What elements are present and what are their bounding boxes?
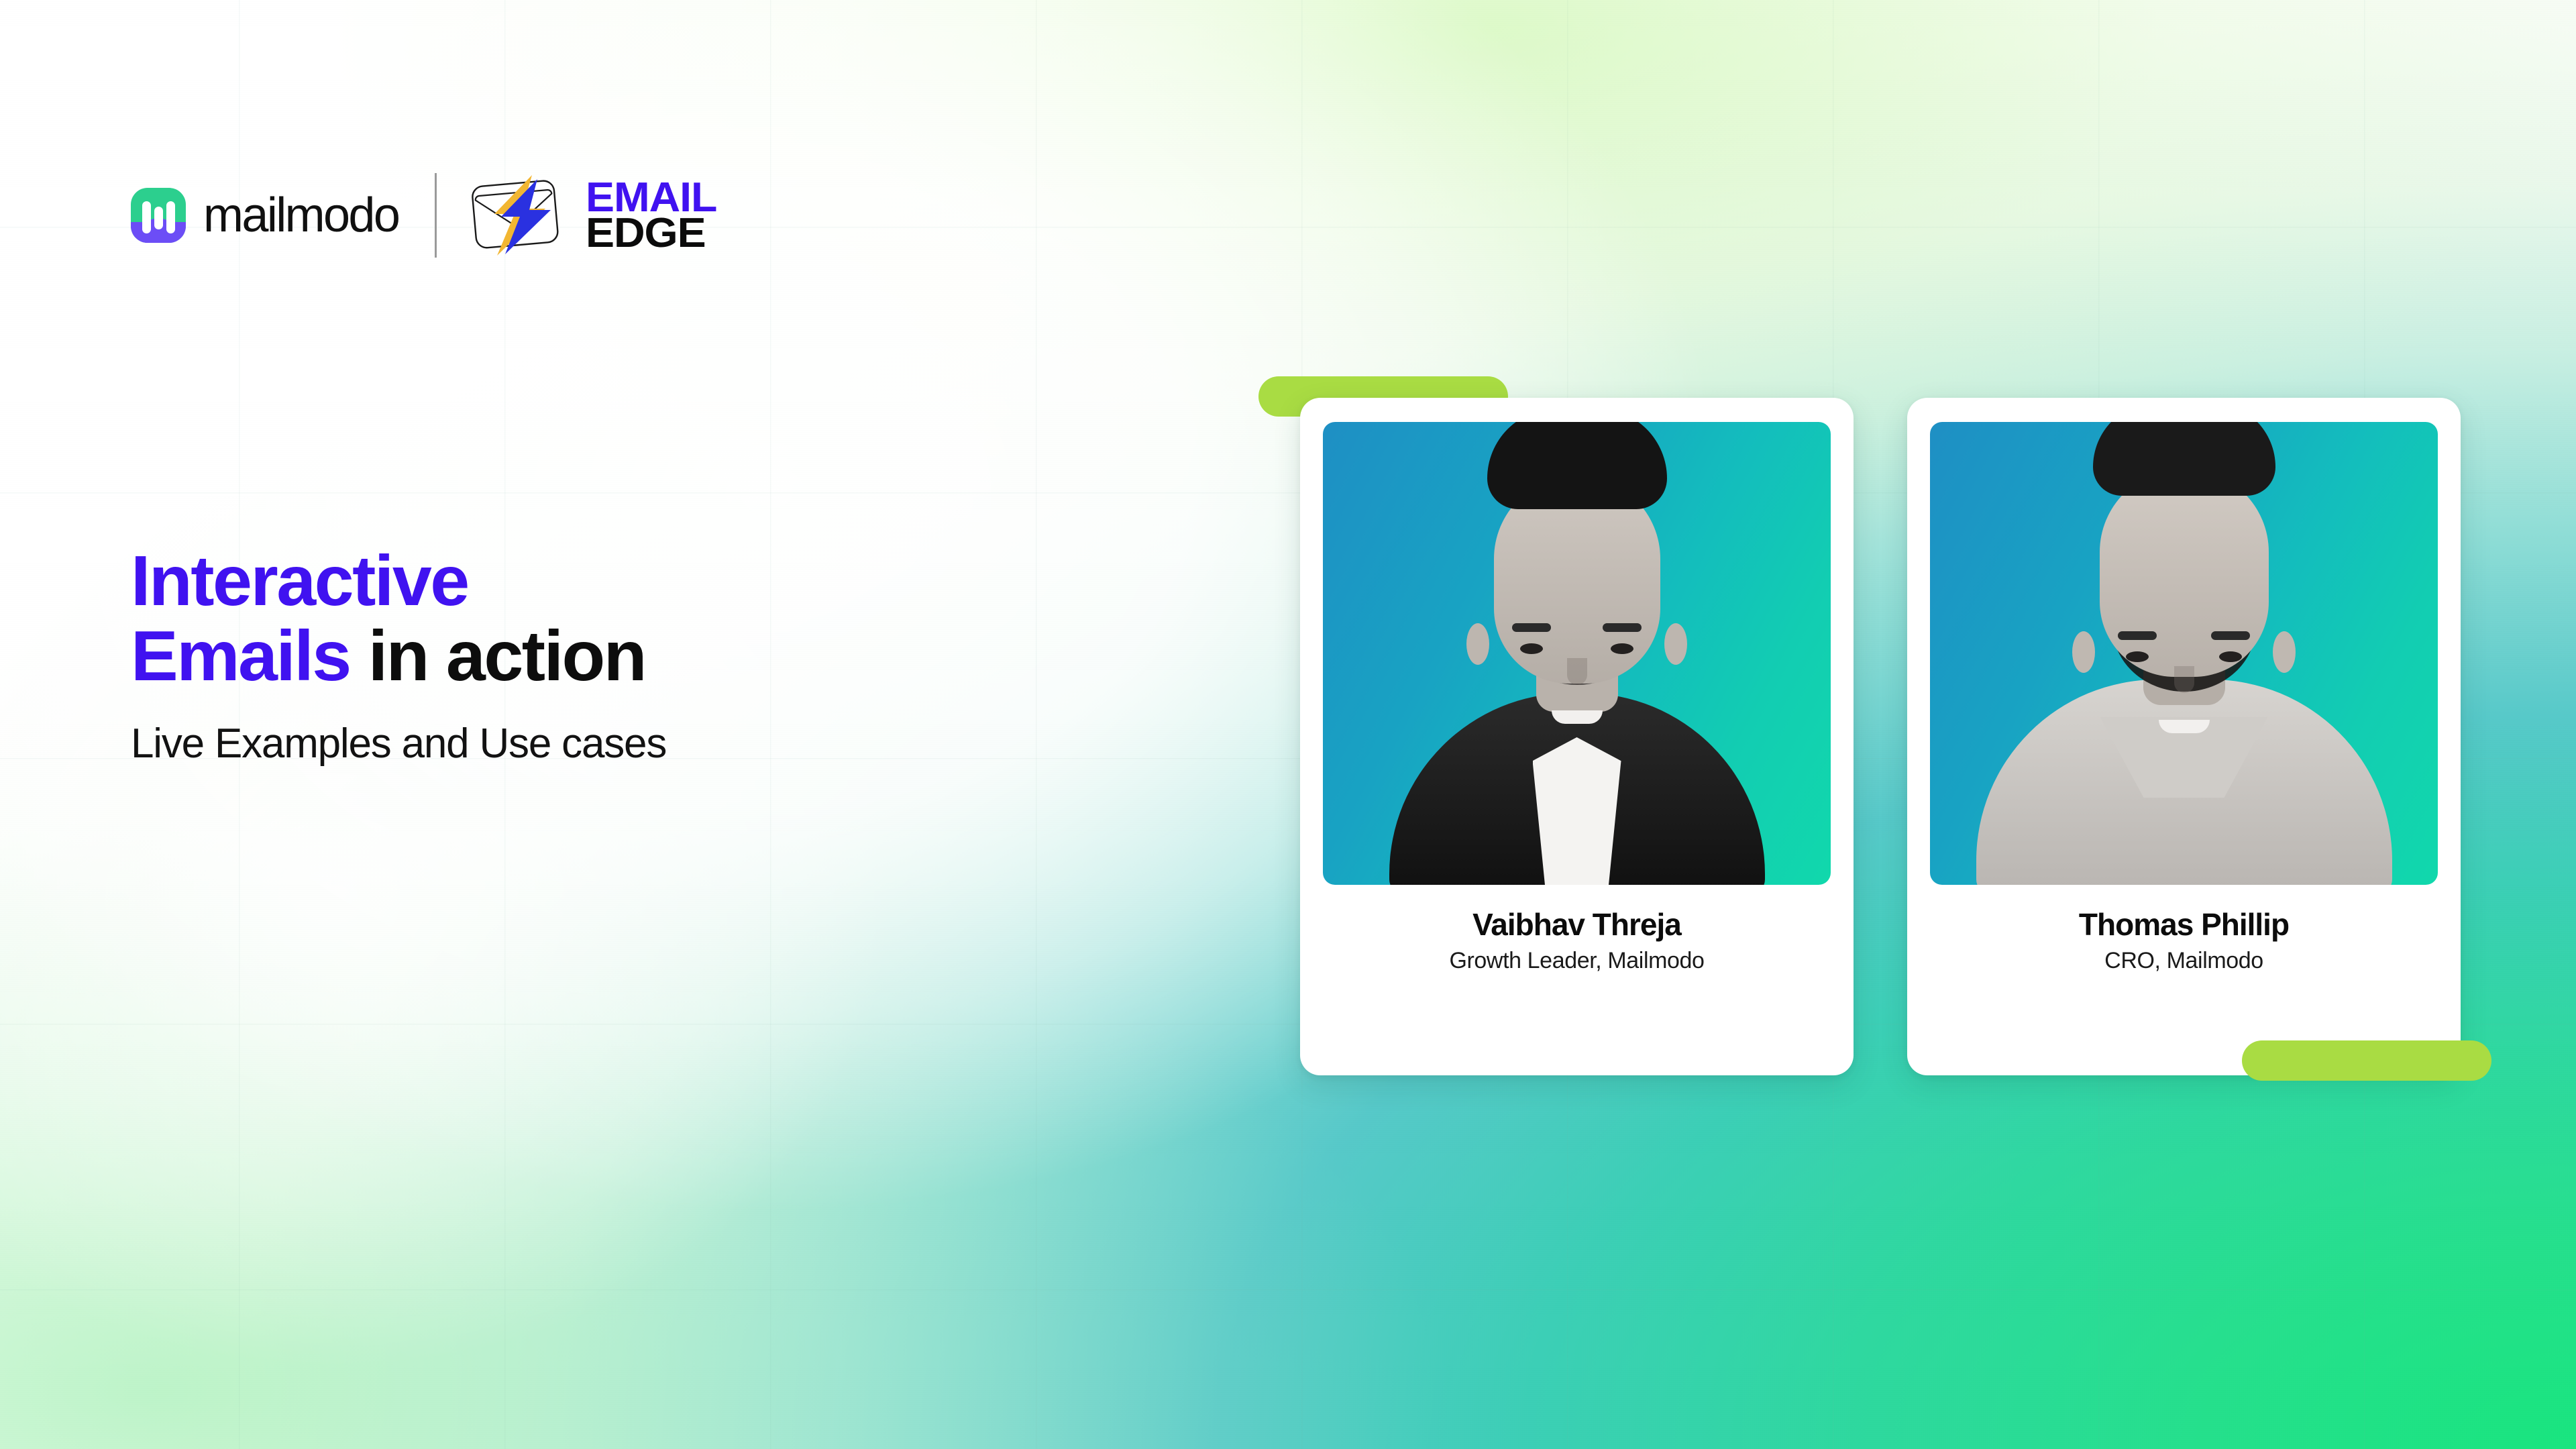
logo-divider [435,173,437,258]
speaker-card[interactable]: Vaibhav Threja Growth Leader, Mailmodo [1300,398,1854,1075]
headline-accent-line2: Emails [131,616,350,696]
mailmodo-wordmark: mailmodo [203,191,398,239]
speaker-photo [1323,422,1831,885]
speaker-photo [1930,422,2438,885]
logo-row: mailmodo EMAIL EDGE [131,173,712,258]
lime-accent-pill-bottom-right [2242,1040,2491,1081]
headline-accent-line1: Interactive [131,541,468,621]
mailmodo-logo[interactable]: mailmodo [131,188,398,243]
hero-text-block: Interactive Emails in action Live Exampl… [131,543,1137,767]
mailmodo-logo-icon [131,188,186,243]
speaker-card[interactable]: Thomas Phillip CRO, Mailmodo [1907,398,2461,1075]
speaker-role: CRO, Mailmodo [2104,949,2263,973]
hero-subtitle: Live Examples and Use cases [131,720,1137,767]
speaker-card-group: Vaibhav Threja Growth Leader, Mailmodo [1300,372,2467,1117]
speaker-role: Growth Leader, Mailmodo [1449,949,1704,973]
headline-rest: in action [350,616,645,696]
email-edge-wordmark: EMAIL EDGE [586,180,712,252]
hero-banner: mailmodo EMAIL EDGE Inter [0,0,2576,1449]
email-edge-logo[interactable]: EMAIL EDGE [468,175,712,256]
speaker-name: Thomas Phillip [2079,908,2289,942]
edge-title-line2: EDGE [586,215,716,251]
page-title: Interactive Emails in action [131,543,1137,694]
email-edge-bolt-envelope-icon [468,175,570,256]
speaker-name: Vaibhav Threja [1472,908,1681,942]
